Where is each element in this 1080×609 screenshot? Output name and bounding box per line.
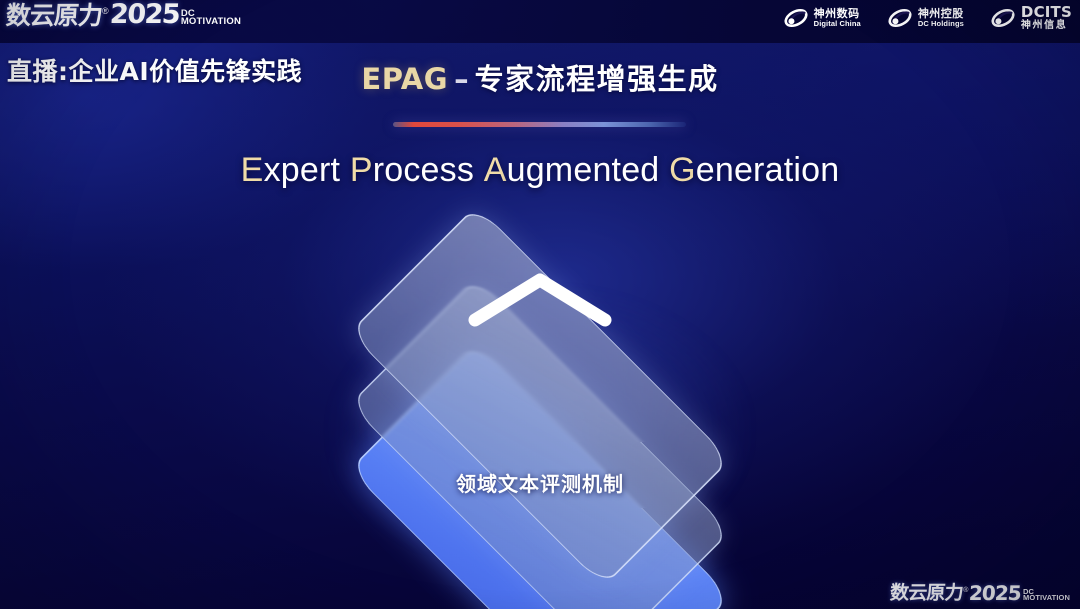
swoosh-logo-icon: [887, 5, 913, 31]
swoosh-logo-icon: [783, 5, 809, 31]
partner-text: 神州数码 Digital China: [814, 9, 861, 28]
watermark-registered-mark: ®: [963, 587, 968, 594]
swoosh-logo-icon: [990, 5, 1016, 31]
watermark-motivation-label: MOTIVATION: [1023, 595, 1070, 602]
layer-label-top: 领域文本评测机制: [290, 468, 790, 497]
partner-name-en: Digital China: [814, 20, 861, 28]
watermark-year: 2025: [969, 583, 1022, 603]
partner-text: DCITS 神州信息: [1021, 5, 1072, 30]
subtitle-cap-e: E: [241, 151, 264, 189]
title-dash: –: [448, 62, 475, 96]
live-stream-title: 直播:企业AI价值先锋实践: [7, 52, 302, 88]
watermark-dc-motivation: DC MOTIVATION: [1023, 589, 1070, 603]
partner-logo-dcits: DCITS 神州信息: [990, 5, 1072, 31]
brand-logo: 数云原力 ® 2025 DC MOTIVATION: [6, 1, 241, 28]
watermark-name-cn: 数云原力: [890, 584, 964, 603]
partner-name-en: 神州信息: [1021, 21, 1072, 31]
partner-logo-group: 神州数码 Digital China 神州控股 DC Holdings: [783, 5, 1072, 31]
layer-plate-top: [349, 205, 731, 587]
partner-name-en: DC Holdings: [918, 20, 964, 28]
slide-canvas: 数云原力 ® 2025 DC MOTIVATION 直播:企业AI价值先锋实践 …: [0, 0, 1080, 609]
registered-mark: ®: [102, 7, 109, 16]
page-subtitle: Expert Process Augmented Generation: [0, 151, 1080, 190]
title-chinese: 专家流程增强生成: [475, 62, 719, 96]
stacked-layers-diagram: 领域文本评测机制 Dynamic MOE 长文本记忆 三类语义建模模块: [290, 228, 790, 568]
subtitle-word-generation: eneration: [696, 151, 840, 189]
partner-text: 神州控股 DC Holdings: [918, 9, 964, 28]
subtitle-cap-g: G: [669, 151, 696, 189]
subtitle-word-process: rocess: [373, 151, 474, 189]
subtitle-word-augmented: ugmented: [507, 151, 660, 189]
partner-name-cn: DCITS: [1021, 5, 1072, 20]
brand-year: 2025: [109, 1, 180, 28]
chevron-up-icon: [465, 268, 615, 330]
partner-logo-digital-china: 神州数码 Digital China: [783, 5, 861, 31]
partner-logo-dc-holdings: 神州控股 DC Holdings: [887, 5, 964, 31]
footer-watermark: 数云原力 ® 2025 DC MOTIVATION: [890, 583, 1070, 603]
subtitle-word-expert: xpert: [264, 151, 341, 189]
brand-motivation-label: MOTIVATION: [181, 18, 241, 27]
brand-dc-motivation: DC MOTIVATION: [181, 10, 241, 27]
subtitle-cap-p: P: [350, 151, 373, 189]
brand-name-cn: 数云原力: [5, 3, 103, 28]
subtitle-cap-a: A: [484, 151, 507, 189]
gradient-divider: [393, 122, 686, 127]
title-acronym: EPAG: [361, 62, 448, 96]
